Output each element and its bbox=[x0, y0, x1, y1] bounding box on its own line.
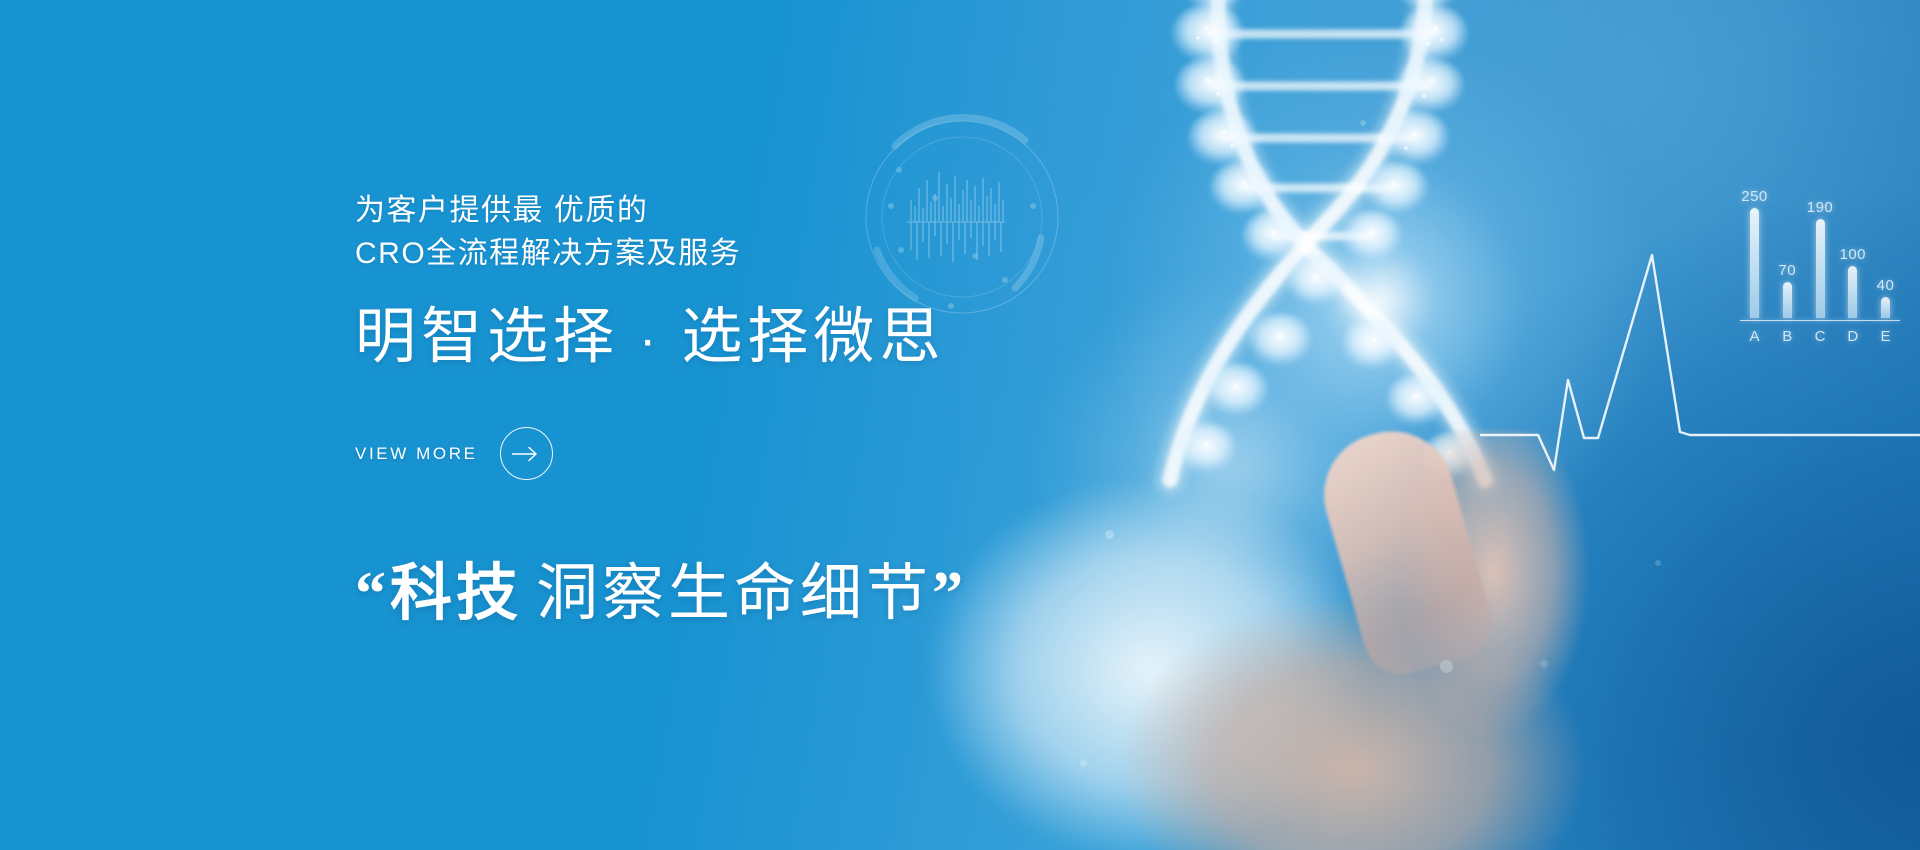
headline-separator: · bbox=[619, 311, 681, 369]
bar-value-d: 100 bbox=[1839, 246, 1866, 263]
subtitle-line-2: CRO全流程解决方案及服务 bbox=[355, 233, 1135, 276]
category-label-c: C bbox=[1812, 328, 1829, 345]
category-label-e: E bbox=[1877, 328, 1894, 345]
category-label-b: B bbox=[1779, 328, 1796, 345]
bar-a bbox=[1750, 208, 1759, 318]
bar-value-a: 250 bbox=[1741, 188, 1768, 205]
hero-headline: 明智选择·选择微思 bbox=[355, 301, 1135, 373]
bar-d bbox=[1848, 266, 1857, 318]
quote-close-mark: ” bbox=[932, 560, 967, 628]
bokeh-dot bbox=[1440, 660, 1453, 673]
quote-light-text: 洞察生命细节 bbox=[522, 559, 932, 628]
bokeh-dot bbox=[1540, 660, 1548, 668]
headline-left: 明智选择 bbox=[355, 302, 619, 370]
bar-value-c: 190 bbox=[1807, 199, 1834, 216]
bokeh-dot bbox=[1360, 120, 1366, 126]
chart-axis-line bbox=[1740, 320, 1900, 321]
bokeh-dot bbox=[1080, 760, 1087, 767]
category-label-d: D bbox=[1844, 328, 1861, 345]
chart-plot-area: 250 70 190 100 40 bbox=[1740, 188, 1900, 318]
bar-e bbox=[1881, 297, 1890, 318]
headline-right: 选择微思 bbox=[681, 302, 945, 370]
hero-content: 为客户提供最 优质的 CRO全流程解决方案及服务 明智选择·选择微思 VIEW … bbox=[355, 190, 1135, 632]
view-more-label: VIEW MORE bbox=[355, 444, 478, 464]
hero-subtitle: 为客户提供最 优质的 CRO全流程解决方案及服务 bbox=[355, 190, 1135, 275]
chart-category-labels: A B C D E bbox=[1740, 328, 1900, 345]
arrow-right-icon[interactable] bbox=[500, 427, 553, 480]
hero-quote: “科技洞察生命细节” bbox=[355, 542, 1135, 632]
bar-column-b: 70 bbox=[1779, 188, 1796, 318]
bar-chart-overlay: 250 70 190 100 40 bbox=[1740, 188, 1900, 368]
bar-column-d: 100 bbox=[1844, 188, 1861, 318]
bar-column-a: 250 bbox=[1746, 188, 1763, 318]
category-label-a: A bbox=[1746, 328, 1763, 345]
quote-strong-text: 科技 bbox=[390, 559, 522, 628]
subtitle-line-1: 为客户提供最 优质的 bbox=[355, 194, 648, 227]
bar-b bbox=[1783, 282, 1792, 318]
hero-banner: 250 70 190 100 40 bbox=[0, 0, 1920, 850]
bar-column-c: 190 bbox=[1812, 188, 1829, 318]
bar-value-e: 40 bbox=[1877, 277, 1895, 294]
view-more-button[interactable]: VIEW MORE bbox=[355, 427, 553, 480]
quote-open-mark: “ bbox=[355, 560, 390, 628]
bokeh-dot bbox=[1655, 560, 1661, 566]
chart-bars: 250 70 190 100 40 bbox=[1740, 188, 1900, 318]
bar-c bbox=[1816, 219, 1825, 318]
bar-value-b: 70 bbox=[1778, 262, 1796, 279]
bar-column-e: 40 bbox=[1877, 188, 1894, 318]
